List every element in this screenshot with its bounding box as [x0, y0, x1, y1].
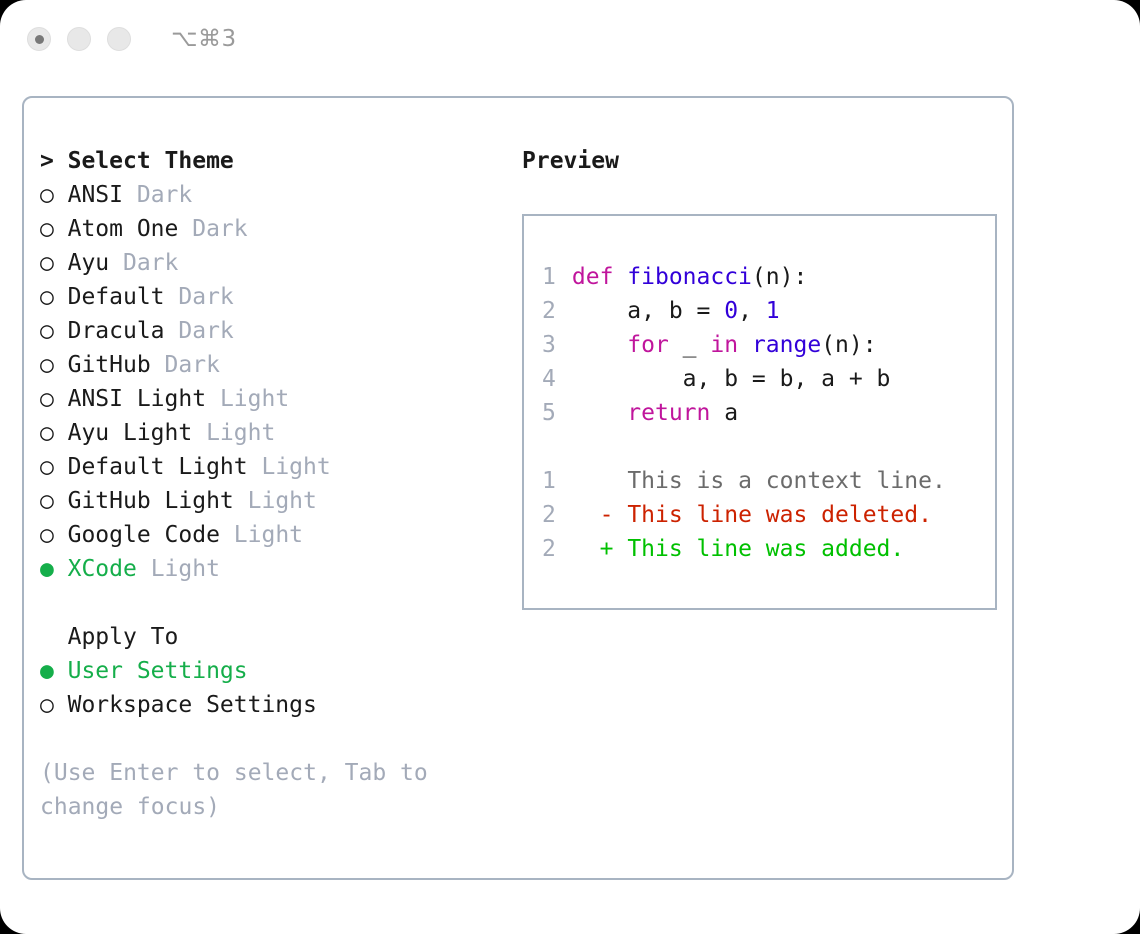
radio-selected-icon: ● — [40, 654, 68, 688]
diff-line-text: This line was deleted. — [627, 502, 932, 528]
theme-list-item[interactable]: ●XCode Light — [40, 552, 510, 586]
code-token: def — [572, 264, 627, 290]
keyboard-shortcut-label: ⌥⌘3 — [171, 26, 237, 52]
theme-list-item-label: Default Light — [68, 454, 248, 480]
diff-line-number: 1 — [542, 464, 572, 498]
diff-line: 1 This is a context line. — [542, 464, 995, 498]
diff-sample: 1 This is a context line.2 - This line w… — [542, 464, 995, 566]
theme-list-item[interactable]: ○Ayu Light Light — [40, 416, 510, 450]
preview-column: Preview 1def fibonacci(n):2 a, b = 0, 13… — [510, 144, 1012, 878]
diff-line-number: 2 — [542, 532, 572, 566]
theme-list-item[interactable]: ○Ayu Dark — [40, 246, 510, 280]
code-token: a — [710, 400, 738, 426]
select-theme-header-label: Select Theme — [68, 148, 234, 174]
theme-list-item-category: Dark — [123, 250, 178, 276]
diff-gap-2 — [613, 468, 627, 494]
code-line-number: 2 — [542, 294, 572, 328]
theme-list-item-category: Dark — [137, 182, 192, 208]
diff-gap-2 — [613, 536, 627, 562]
select-theme-header-prefix: > — [40, 144, 68, 178]
code-sample: 1def fibonacci(n):2 a, b = 0, 13 for _ i… — [542, 260, 995, 430]
code-diff-spacer — [542, 430, 995, 464]
theme-list-item-label: Ayu — [68, 250, 110, 276]
apply-to-item[interactable]: ○Workspace Settings — [40, 688, 510, 722]
theme-list-item-category: Dark — [178, 318, 233, 344]
apply-to-header-label: Apply To — [68, 624, 179, 650]
code-token: (n): — [821, 332, 876, 358]
diff-marker — [600, 468, 614, 494]
code-line: 1def fibonacci(n): — [542, 260, 995, 294]
theme-label-gap — [178, 216, 192, 242]
code-token: return — [627, 400, 710, 426]
theme-list-item[interactable]: ○GitHub Dark — [40, 348, 510, 382]
radio-unselected-icon: ○ — [40, 518, 68, 552]
code-line-number: 5 — [542, 396, 572, 430]
section-spacer — [40, 586, 510, 620]
theme-list-item-label: GitHub — [68, 352, 151, 378]
code-token: in — [710, 332, 738, 358]
theme-label-gap — [165, 318, 179, 344]
theme-list-item-label: ANSI Light — [68, 386, 206, 412]
code-line: 5 return a — [542, 396, 995, 430]
radio-unselected-icon: ○ — [40, 450, 68, 484]
code-token: range — [752, 332, 821, 358]
radio-unselected-icon: ○ — [40, 246, 68, 280]
diff-gap-2 — [613, 502, 627, 528]
select-theme-header: >Select Theme — [40, 144, 510, 178]
theme-list-item-category: Light — [234, 522, 303, 548]
code-token: (n): — [752, 264, 807, 290]
diff-line: 2 + This line was added. — [542, 532, 995, 566]
code-line: 2 a, b = 0, 1 — [542, 294, 995, 328]
traffic-light-button-2[interactable] — [67, 27, 91, 51]
code-token: _ — [669, 332, 711, 358]
radio-unselected-icon: ○ — [40, 416, 68, 450]
traffic-light-button-3[interactable] — [107, 27, 131, 51]
diff-line-text: This line was added. — [627, 536, 904, 562]
radio-selected-icon: ● — [40, 552, 68, 586]
theme-label-gap — [234, 488, 248, 514]
theme-list-item[interactable]: ○ANSI Light Light — [40, 382, 510, 416]
theme-list-item-label: GitHub Light — [68, 488, 234, 514]
theme-list-item-category: Light — [151, 556, 220, 582]
theme-list-item-category: Light — [206, 420, 275, 446]
theme-list-item[interactable]: ○Dracula Dark — [40, 314, 510, 348]
code-token: 0 — [724, 298, 738, 324]
theme-list-item-label: ANSI — [68, 182, 123, 208]
code-token: , — [738, 298, 766, 324]
theme-label-gap — [192, 420, 206, 446]
diff-gap — [572, 468, 600, 494]
theme-list: ○ANSI Dark○Atom One Dark○Ayu Dark○Defaul… — [40, 178, 510, 586]
title-bar: ⌥⌘3 — [0, 0, 1140, 78]
traffic-light-button-1[interactable] — [27, 27, 51, 51]
main-panel: >Select Theme ○ANSI Dark○Atom One Dark○A… — [22, 96, 1014, 880]
diff-gap — [572, 536, 600, 562]
apply-to-header: Apply To — [40, 620, 510, 654]
apply-to-item-label: User Settings — [68, 658, 248, 684]
code-token: a, b = b, a + b — [572, 366, 891, 392]
theme-list-item-label: Google Code — [68, 522, 220, 548]
help-text: (Use Enter to select, Tab to change focu… — [40, 756, 460, 824]
theme-list-item[interactable]: ○Default Dark — [40, 280, 510, 314]
apply-to-header-prefix — [40, 620, 68, 654]
code-token: a, b = — [572, 298, 724, 324]
radio-unselected-icon: ○ — [40, 314, 68, 348]
code-line-number: 3 — [542, 328, 572, 362]
theme-list-item[interactable]: ○ANSI Dark — [40, 178, 510, 212]
traffic-light-dot-icon — [35, 35, 44, 44]
diff-marker: - — [600, 502, 614, 528]
apply-to-list: ●User Settings○Workspace Settings — [40, 654, 510, 722]
theme-list-item-label: Ayu Light — [68, 420, 193, 446]
apply-to-item[interactable]: ●User Settings — [40, 654, 510, 688]
theme-list-item-category: Dark — [178, 284, 233, 310]
radio-unselected-icon: ○ — [40, 348, 68, 382]
code-token — [572, 332, 627, 358]
preview-box: 1def fibonacci(n):2 a, b = 0, 13 for _ i… — [522, 214, 997, 610]
theme-list-item-label: Dracula — [68, 318, 165, 344]
radio-unselected-icon: ○ — [40, 280, 68, 314]
code-token — [572, 400, 627, 426]
code-line: 4 a, b = b, a + b — [542, 362, 995, 396]
theme-list-item[interactable]: ○Default Light Light — [40, 450, 510, 484]
code-line: 3 for _ in range(n): — [542, 328, 995, 362]
diff-line-text: This is a context line. — [627, 468, 946, 494]
code-token — [738, 332, 752, 358]
theme-label-gap — [137, 556, 151, 582]
radio-unselected-icon: ○ — [40, 178, 68, 212]
theme-label-gap — [220, 522, 234, 548]
diff-gap — [572, 502, 600, 528]
theme-label-gap — [248, 454, 262, 480]
theme-label-gap — [123, 182, 137, 208]
theme-list-item[interactable]: ○GitHub Light Light — [40, 484, 510, 518]
radio-unselected-icon: ○ — [40, 382, 68, 416]
theme-list-item[interactable]: ○Atom One Dark — [40, 212, 510, 246]
code-token: fibonacci — [627, 264, 752, 290]
radio-unselected-icon: ○ — [40, 688, 68, 722]
theme-label-gap — [165, 284, 179, 310]
app-window: ⌥⌘3 >Select Theme ○ANSI Dark○Atom One Da… — [0, 0, 1140, 934]
diff-line: 2 - This line was deleted. — [542, 498, 995, 532]
theme-list-item-category: Light — [261, 454, 330, 480]
theme-list-item-label: Atom One — [68, 216, 179, 242]
apply-to-item-label: Workspace Settings — [68, 692, 317, 718]
preview-title: Preview — [522, 144, 1012, 178]
theme-label-gap — [151, 352, 165, 378]
theme-list-item-label: XCode — [68, 556, 137, 582]
theme-selection-column: >Select Theme ○ANSI Dark○Atom One Dark○A… — [40, 144, 510, 878]
theme-list-item-category: Light — [248, 488, 317, 514]
theme-list-item-label: Default — [68, 284, 165, 310]
code-line-number: 4 — [542, 362, 572, 396]
theme-list-item-category: Dark — [165, 352, 220, 378]
theme-label-gap — [109, 250, 123, 276]
diff-marker: + — [600, 536, 614, 562]
theme-label-gap — [206, 386, 220, 412]
code-line-number: 1 — [542, 260, 572, 294]
radio-unselected-icon: ○ — [40, 212, 68, 246]
theme-list-item-category: Light — [220, 386, 289, 412]
code-token: for — [627, 332, 669, 358]
theme-list-item-category: Dark — [192, 216, 247, 242]
code-token: 1 — [766, 298, 780, 324]
theme-list-item[interactable]: ○Google Code Light — [40, 518, 510, 552]
radio-unselected-icon: ○ — [40, 484, 68, 518]
diff-line-number: 2 — [542, 498, 572, 532]
